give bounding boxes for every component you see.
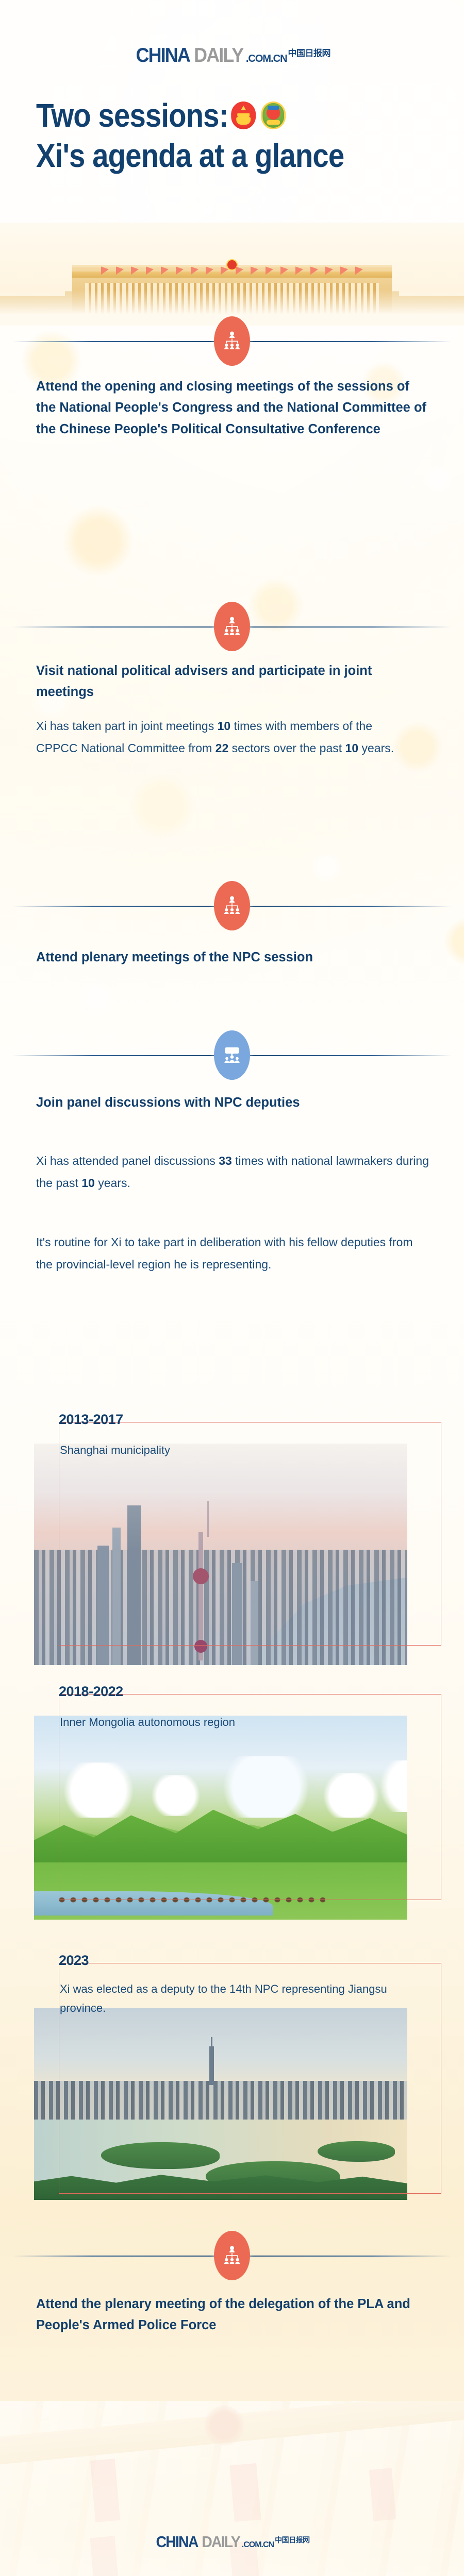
organization-chart-icon — [214, 2231, 250, 2280]
page-title: Two sessions: Xi's agenda at a glance — [36, 95, 449, 176]
section-headline-4: Join panel discussions with NPC deputies — [36, 1092, 366, 1113]
card-caption-jiangsu: Xi was elected as a deputy to the 14th N… — [60, 1979, 400, 2018]
section-divider-4 — [0, 1030, 464, 1080]
brand-domain: .COM.CN — [242, 2540, 274, 2550]
section-divider-3 — [0, 881, 464, 930]
section-body-2: Xi has taken part in joint meetings 10 t… — [36, 715, 397, 759]
panel-discussion-icon — [214, 1030, 250, 1080]
title-line-1: Two sessions: — [36, 95, 399, 135]
brand-china: CHINA — [136, 44, 189, 67]
flag-row — [0, 266, 464, 274]
brand-domain: .COM.CN — [246, 53, 287, 65]
card-year-shanghai: 2013-2017 — [59, 1412, 128, 1428]
title-line-2: Xi's agenda at a glance — [36, 135, 399, 176]
deputy-card-inner-mongolia: 2018-2022 Inner Mongolia autonomous regi… — [34, 1684, 441, 1926]
card-year-inner-mongolia: 2018-2022 — [59, 1684, 128, 1700]
section-headline-5: Attend the plenary meeting of the delega… — [36, 2294, 428, 2336]
header-logo[interactable]: CHINA DAILY .COM.CN 中国日报网 — [0, 44, 464, 67]
cppcc-emblem-icon — [261, 101, 286, 129]
card-caption-shanghai: Shanghai municipality — [60, 1440, 170, 1460]
card-year-jiangsu: 2023 — [59, 1953, 94, 1969]
section-body-4: Xi has attended panel discussions 33 tim… — [36, 1150, 438, 1194]
section-headline-2: Visit national political advisers and pa… — [36, 660, 407, 703]
section-headline-1: Attend the opening and closing meetings … — [36, 376, 428, 440]
infographic-page: CHINA DAILY .COM.CN 中国日报网 Two sessions: … — [0, 0, 464, 2576]
card-caption-inner-mongolia: Inner Mongolia autonomous region — [60, 1713, 235, 1732]
section-divider-1 — [0, 316, 464, 366]
brand-hanzi: 中国日报网 — [275, 2535, 310, 2545]
section-divider-5 — [0, 2231, 464, 2280]
footer-logo[interactable]: CHINA DAILY .COM.CN 中国日报网 — [0, 2533, 464, 2551]
section-divider-2 — [0, 602, 464, 651]
deputy-card-shanghai: 2013-2017 Shanghai municipality — [34, 1412, 441, 1669]
deputy-card-jiangsu: 2023 Xi was elected as a deputy to the 1… — [34, 1953, 441, 2210]
great-hall-of-the-people-image — [0, 223, 464, 326]
brand-china: CHINA — [156, 2533, 198, 2551]
organization-chart-icon — [214, 316, 250, 366]
china-national-emblem-icon — [231, 101, 256, 129]
brand-daily: DAILY — [202, 2533, 240, 2551]
section-headline-3: Attend plenary meetings of the NPC sessi… — [36, 947, 397, 968]
brand-hanzi: 中国日报网 — [288, 46, 331, 59]
title-text-1: Two sessions: — [36, 95, 228, 135]
brand-daily: DAILY — [194, 44, 243, 67]
organization-chart-icon — [214, 881, 250, 930]
title-emblems — [231, 101, 286, 129]
section-note-4: It's routine for Xi to take part in deli… — [36, 1231, 428, 1275]
organization-chart-icon — [214, 602, 250, 651]
